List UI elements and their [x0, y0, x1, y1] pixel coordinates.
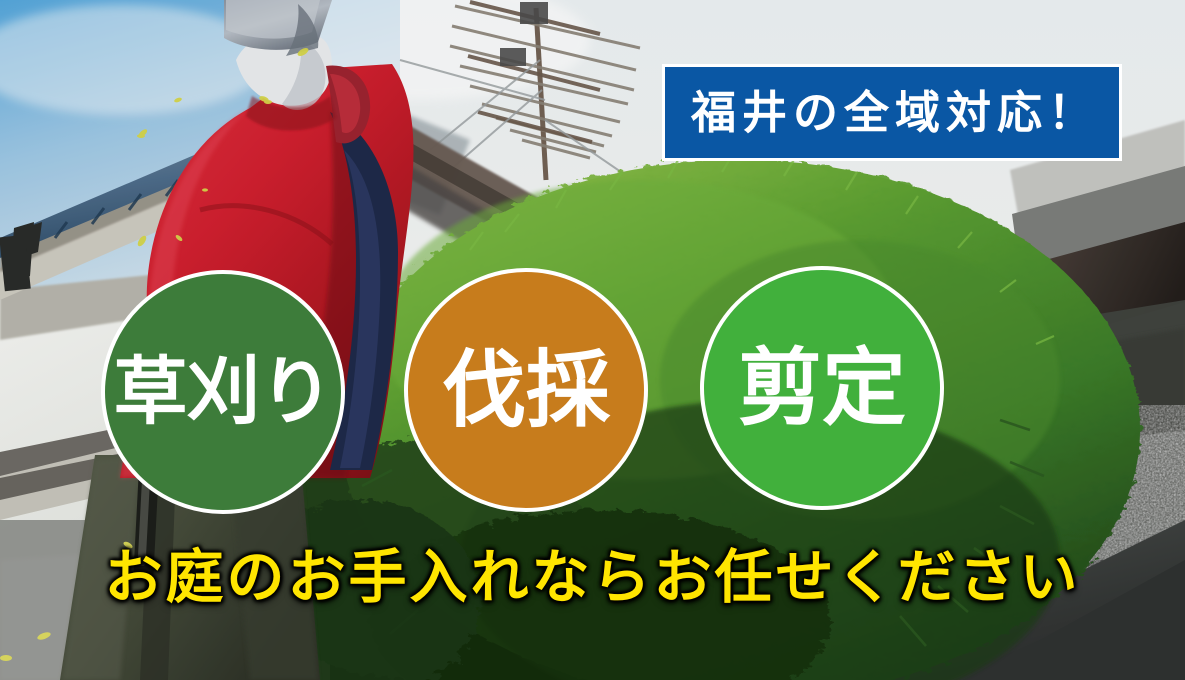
service-circle-kusakari: 草刈り: [101, 270, 345, 514]
service-circle-sentei: 剪定: [700, 266, 944, 510]
service-circle-label-kusakari: 草刈り: [114, 355, 333, 429]
advertisement-banner: 福井の全域対応！ 草刈り 伐採 剪定 お庭のお手入れならお任せください: [0, 0, 1185, 680]
region-coverage-badge: 福井の全域対応！: [662, 64, 1122, 161]
tagline-text: お庭のお手入れならお任せください: [104, 547, 1080, 610]
service-circle-bassai: 伐採: [404, 268, 648, 512]
region-coverage-label: 福井の全域対応！: [685, 90, 1099, 135]
service-circle-label-bassai: 伐採: [442, 348, 610, 432]
service-circle-label-sentei: 剪定: [738, 346, 906, 430]
tagline: お庭のお手入れならお任せください: [0, 547, 1185, 610]
